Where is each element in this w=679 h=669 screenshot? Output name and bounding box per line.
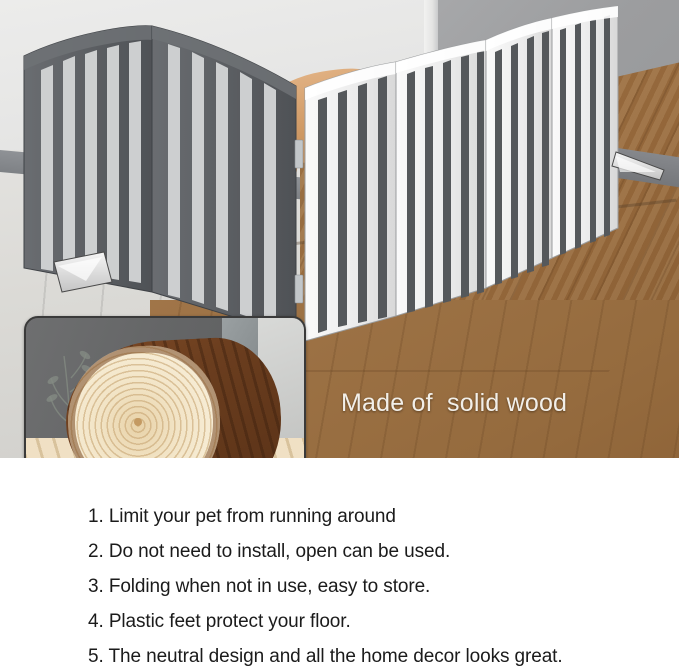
gate-panel-5 — [486, 18, 552, 288]
caption-made-of-solid-wood: Made of solid wood — [341, 389, 567, 418]
gate-panel-1 — [24, 26, 152, 292]
log-pith-center — [134, 418, 142, 426]
inset-solid-wood-photo — [24, 316, 306, 458]
gate-panel-6 — [552, 6, 618, 258]
product-photo-scene: Made of solid wood — [0, 0, 679, 458]
feature-item-4: 4. Plastic feet protect your floor. — [88, 611, 351, 633]
feature-item-3: 3. Folding when not in use, easy to stor… — [88, 576, 430, 598]
feature-item-5: 5. The neutral design and all the home d… — [88, 646, 563, 668]
feature-item-1: 1. Limit your pet from running around — [88, 506, 396, 528]
gate-panel-3 — [305, 62, 396, 341]
gate-panel-4 — [396, 40, 486, 316]
gate-panel-2 — [152, 26, 296, 336]
gate-foot-right — [612, 152, 664, 180]
feature-list: 1. Limit your pet from running around 2.… — [0, 458, 679, 669]
feature-item-2: 2. Do not need to install, open can be u… — [88, 541, 450, 563]
product-listing-image: Made of solid wood — [0, 0, 679, 669]
